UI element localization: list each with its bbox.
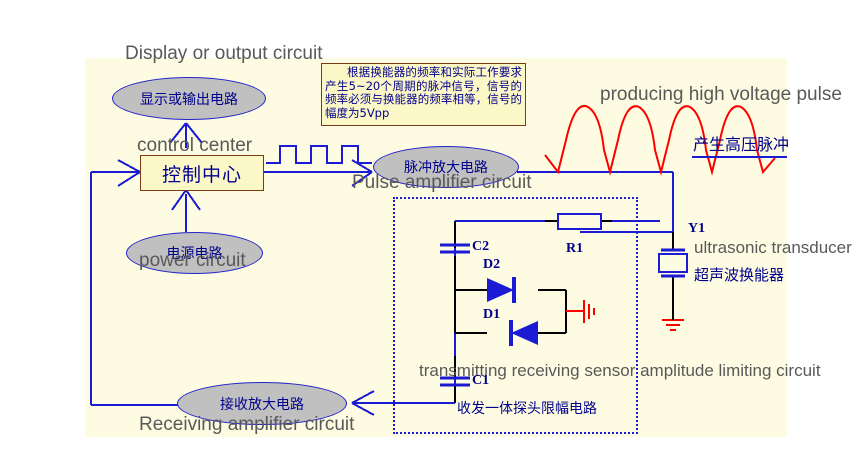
label-d1: D1 xyxy=(483,308,500,322)
label-high-voltage-pulse-en: producing high voltage pulse xyxy=(600,85,842,104)
label-ultrasonic-transducer-en: ultrasonic transducer xyxy=(694,239,852,256)
label-c2: C2 xyxy=(472,240,489,254)
label-r1: R1 xyxy=(566,242,583,256)
note-box-text: 根据换能器的频率和实际工作要求产生5~20个周期的脉冲信号，信号的频率必须与换能… xyxy=(325,65,522,120)
block-display-output[interactable]: 显示或输出电路 xyxy=(112,77,266,120)
diagram-canvas: 显示或输出电路 电源电路 脉冲放大电路 接收放大电路 控制中心 根据换能器的频率… xyxy=(0,0,867,475)
note-box: 根据换能器的频率和实际工作要求产生5~20个周期的脉冲信号，信号的频率必须与换能… xyxy=(321,63,526,126)
label-ultrasonic-transducer-cn: 超声波换能器 xyxy=(694,268,784,283)
label-display-output-en: Display or output circuit xyxy=(125,44,322,63)
label-d2: D2 xyxy=(483,258,500,272)
label-c1: C1 xyxy=(472,374,489,388)
block-control-center-label: 控制中心 xyxy=(162,160,242,187)
limiting-circuit-dotted-box xyxy=(393,197,638,434)
label-control-center-en: control center xyxy=(137,136,252,155)
label-high-voltage-pulse-cn: 产生高压脉冲 xyxy=(693,137,789,153)
label-y1: Y1 xyxy=(688,222,705,236)
block-control-center[interactable]: 控制中心 xyxy=(140,155,264,191)
label-receiving-amplifier-en: Receiving amplifier circuit xyxy=(139,415,354,434)
label-power-circuit-en: power circuit xyxy=(139,251,246,270)
label-pulse-amplifier-en: Pulse amplifier circuit xyxy=(352,173,532,192)
block-display-output-label: 显示或输出电路 xyxy=(140,89,238,109)
label-limiting-circuit-cn: 收发一体探头限幅电路 xyxy=(457,402,597,416)
block-receiving-amplifier-label: 接收放大电路 xyxy=(220,394,304,414)
